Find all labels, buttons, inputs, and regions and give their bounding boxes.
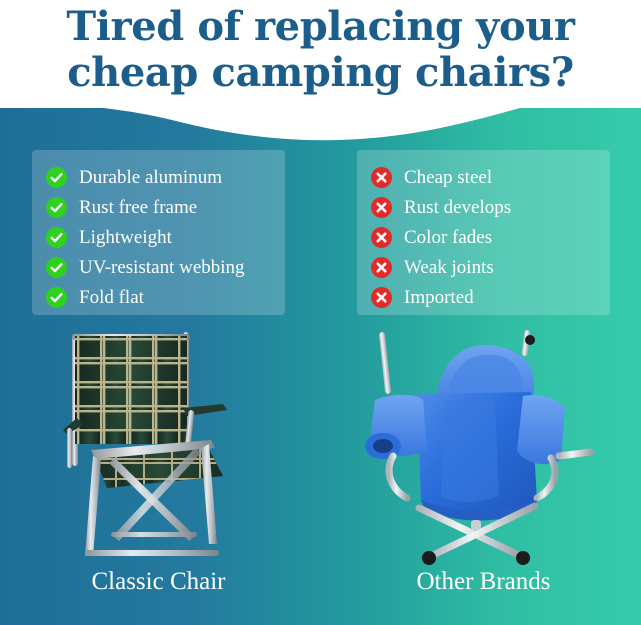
classic-chair-caption: Classic Chair <box>32 568 285 596</box>
header-band: Tired of replacing your cheap camping ch… <box>0 0 641 108</box>
list-item: Color fades <box>371 222 596 252</box>
list-item: Imported <box>371 282 596 312</box>
infographic-root: Tired of replacing your cheap camping ch… <box>0 0 641 625</box>
list-item-label: Lightweight <box>79 227 172 248</box>
x-circle-icon <box>371 197 392 218</box>
other-brands-chair-image <box>345 330 600 570</box>
list-item-label: Weak joints <box>404 257 494 278</box>
x-circle-icon <box>371 227 392 248</box>
page-title: Tired of replacing your cheap camping ch… <box>0 4 641 96</box>
check-circle-icon <box>46 167 67 188</box>
x-circle-icon <box>371 167 392 188</box>
list-item-label: Cheap steel <box>404 167 492 188</box>
list-item: Cheap steel <box>371 162 596 192</box>
x-circle-icon <box>371 257 392 278</box>
list-item-label: Rust develops <box>404 197 511 218</box>
list-item-label: Rust free frame <box>79 197 197 218</box>
list-item: Weak joints <box>371 252 596 282</box>
list-item-label: Durable aluminum <box>79 167 222 188</box>
classic-chair-image <box>55 330 287 570</box>
pros-panel: Durable aluminum Rust free frame Lightwe… <box>32 150 285 315</box>
list-item-label: Imported <box>404 287 474 308</box>
list-item: Fold flat <box>46 282 271 312</box>
cons-panel: Cheap steel Rust develops Color fades <box>357 150 610 315</box>
check-circle-icon <box>46 257 67 278</box>
list-item-label: UV-resistant webbing <box>79 257 245 278</box>
list-item: Durable aluminum <box>46 162 271 192</box>
list-item: Rust free frame <box>46 192 271 222</box>
other-brands-caption: Other Brands <box>357 568 610 596</box>
list-item-label: Color fades <box>404 227 492 248</box>
list-item-label: Fold flat <box>79 287 144 308</box>
list-item: UV-resistant webbing <box>46 252 271 282</box>
check-circle-icon <box>46 227 67 248</box>
list-item: Rust develops <box>371 192 596 222</box>
list-item: Lightweight <box>46 222 271 252</box>
check-circle-icon <box>46 287 67 308</box>
x-circle-icon <box>371 287 392 308</box>
check-circle-icon <box>46 197 67 218</box>
